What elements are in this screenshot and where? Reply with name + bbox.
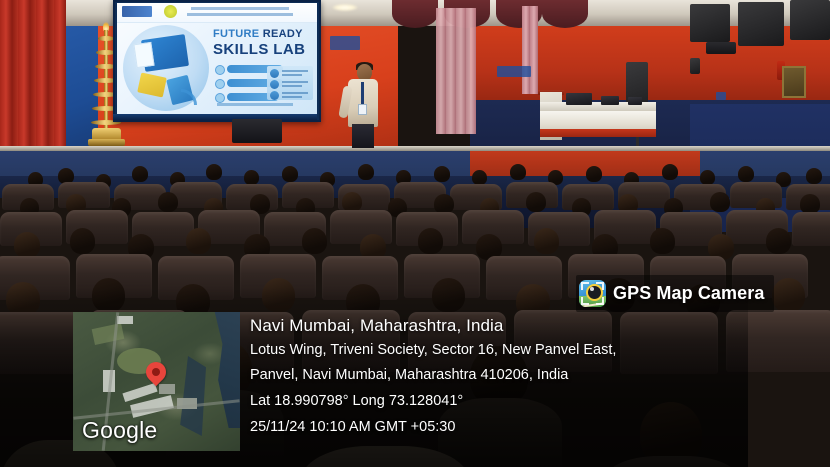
location-city: Navi Mumbai, Maharashtra, India bbox=[250, 313, 750, 338]
wall-sign bbox=[716, 92, 726, 100]
viewfinder-corner-icon bbox=[596, 297, 604, 305]
slide-header bbox=[117, 3, 317, 23]
google-watermark: Google bbox=[82, 417, 157, 444]
ceiling-speaker bbox=[690, 4, 730, 42]
lamp-base bbox=[88, 139, 125, 146]
slide-title-line-2: SKILLS LAB bbox=[213, 41, 305, 58]
slide-title-line-1: FUTURE READY bbox=[213, 28, 303, 40]
table-equipment bbox=[628, 97, 642, 105]
map-thumbnail[interactable]: Google bbox=[73, 312, 240, 451]
presenter-lanyard bbox=[361, 82, 364, 106]
location-info-block: Navi Mumbai, Maharashtra, India Lotus Wi… bbox=[250, 313, 750, 440]
curtain-drape bbox=[522, 6, 538, 94]
ceiling-speaker bbox=[790, 0, 830, 40]
institute-logo bbox=[122, 6, 152, 17]
wall-sign bbox=[497, 66, 531, 77]
table-equipment bbox=[601, 96, 619, 105]
slide-graphic-card bbox=[133, 42, 154, 68]
gps-camera-app-icon bbox=[579, 280, 606, 307]
viewfinder-corner-icon bbox=[596, 282, 604, 290]
map-building bbox=[159, 384, 175, 394]
location-address-line-2: Panvel, Navi Mumbai, Maharashtra 410206,… bbox=[250, 363, 750, 388]
wall-sign bbox=[330, 36, 360, 50]
slide-header-text bbox=[191, 7, 289, 10]
gps-map-camera-badge: GPS Map Camera bbox=[576, 275, 774, 312]
slide-title-bold: READY bbox=[263, 28, 303, 40]
location-coordinates: Lat 18.990798° Long 73.128041° bbox=[250, 388, 750, 414]
presentation-slide: FUTURE READY SKILLS LAB bbox=[117, 3, 317, 115]
wall-plaque bbox=[782, 66, 806, 98]
gps-map-camera-photo: FUTURE READY SKILLS LAB bbox=[0, 0, 830, 467]
ceiling-light bbox=[332, 4, 358, 11]
screen-bottom-bar bbox=[113, 114, 317, 120]
stage-light bbox=[690, 58, 700, 74]
brand-label: GPS Map Camera bbox=[613, 283, 764, 304]
table-equipment bbox=[566, 93, 592, 105]
slide-footer-text bbox=[217, 103, 293, 106]
curtain-valance bbox=[392, 0, 572, 40]
viewfinder-corner-icon bbox=[581, 297, 589, 305]
valance-scallop bbox=[542, 0, 588, 28]
slide-title-light: FUTURE bbox=[213, 28, 263, 40]
projection-screen: FUTURE READY SKILLS LAB bbox=[113, 0, 321, 122]
presenter-id-badge bbox=[358, 104, 367, 115]
location-address-line-1: Lotus Wing, Triveni Society, Sector 16, … bbox=[250, 338, 750, 363]
wall-vent bbox=[706, 42, 736, 54]
map-building bbox=[117, 316, 133, 324]
valance-scallop bbox=[392, 0, 438, 28]
presenter-trousers bbox=[352, 124, 374, 148]
capture-timestamp: 25/11/24 10:10 AM GMT +05:30 bbox=[250, 414, 750, 440]
slide-header-subtext bbox=[187, 13, 293, 16]
table-stripe bbox=[540, 129, 656, 137]
viewfinder-corner-icon bbox=[581, 282, 589, 290]
curtain-drape bbox=[436, 8, 476, 134]
accreditation-logo bbox=[164, 5, 177, 18]
projector-unit bbox=[232, 119, 282, 143]
ceiling-speaker bbox=[738, 2, 784, 46]
